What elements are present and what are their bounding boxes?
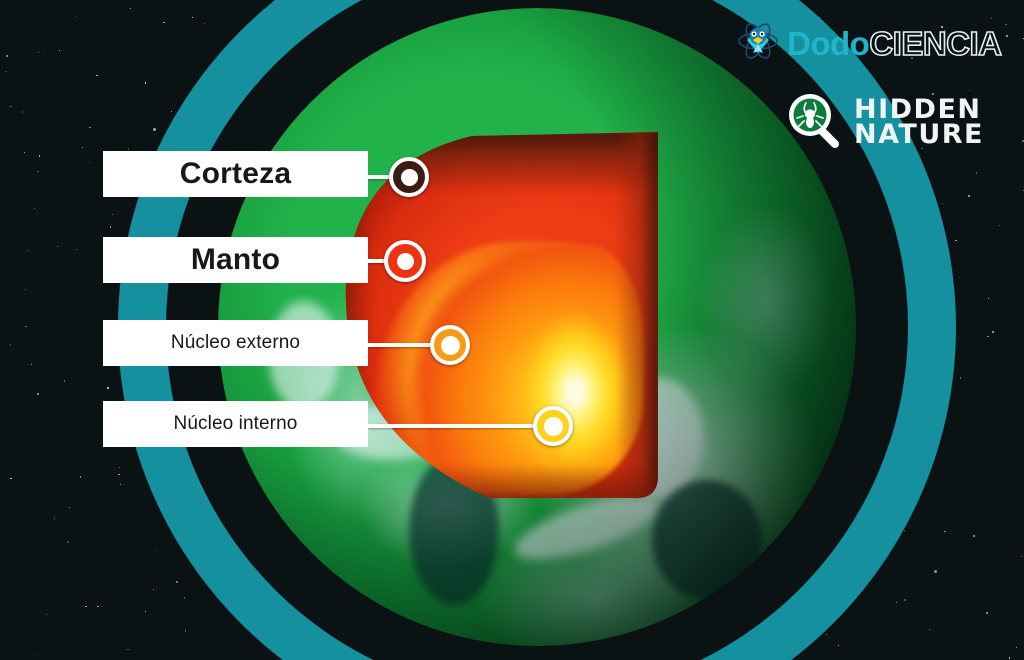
label-box-corteza[interactable]: Corteza — [103, 151, 368, 197]
label-box-nucleo-interno[interactable]: Núcleo interno — [103, 401, 368, 447]
marker-nucleo-externo[interactable] — [430, 325, 470, 365]
marker-dot-nucleo-externo — [441, 336, 460, 355]
dodo-bird-atom-icon — [737, 20, 779, 67]
leader-line-nucleo-interno — [368, 424, 536, 428]
label-text-nucleo-interno: Núcleo interno — [174, 413, 298, 435]
leader-line-nucleo-externo — [368, 343, 433, 347]
infographic-canvas: CortezaMantoNúcleo externoNúcleo interno — [0, 0, 1024, 660]
label-box-manto[interactable]: Manto — [103, 237, 368, 283]
hidden-nature-logo[interactable]: HIDDEN NATURE — [785, 90, 984, 155]
label-text-nucleo-externo: Núcleo externo — [171, 332, 300, 354]
dodociencia-wordmark: DodoCIENCIA — [787, 27, 1002, 60]
dodociencia-logo[interactable]: DodoCIENCIA — [737, 20, 1002, 67]
magnifier-insect-icon — [785, 90, 845, 155]
dodociencia-word-ciencia: CIENCIA — [869, 25, 1001, 62]
marker-corteza[interactable] — [389, 157, 429, 197]
label-text-corteza: Corteza — [180, 157, 291, 191]
hidden-nature-line-two: NATURE — [854, 123, 984, 148]
marker-manto[interactable] — [384, 240, 426, 282]
hidden-nature-wordmark: HIDDEN NATURE — [854, 98, 984, 148]
crust-layer-right — [616, 132, 660, 500]
label-box-nucleo-externo[interactable]: Núcleo externo — [103, 320, 368, 366]
marker-dot-nucleo-interno — [544, 417, 563, 436]
marker-dot-manto — [397, 253, 414, 270]
dodociencia-word-dodo: Dodo — [787, 25, 869, 62]
marker-dot-corteza — [401, 169, 418, 186]
marker-nucleo-interno[interactable] — [533, 406, 573, 446]
label-text-manto: Manto — [191, 243, 280, 277]
